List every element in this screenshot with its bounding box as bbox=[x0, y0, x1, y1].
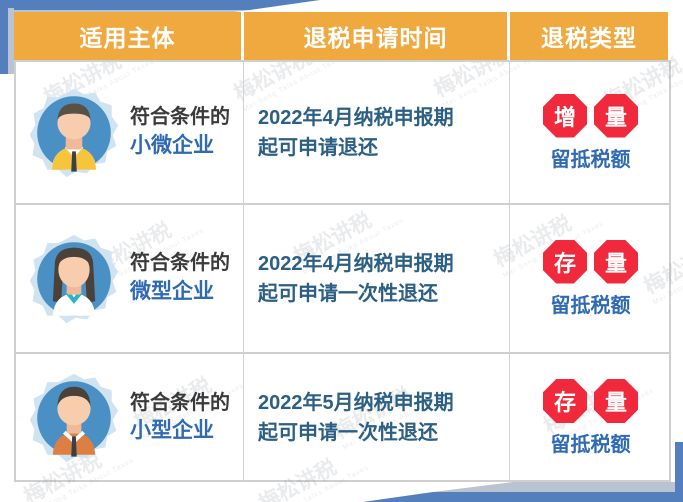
column-header-subject-label: 适用主体 bbox=[80, 19, 176, 53]
subject-line-2: 微型企业 bbox=[130, 280, 214, 303]
status-badge: 增 bbox=[543, 94, 587, 138]
column-header-application-time: 退税申请时间 bbox=[244, 12, 510, 60]
application-time-line-2: 起可申请一次性退还 bbox=[258, 422, 438, 444]
subject-text: 符合条件的 微型企业 bbox=[130, 250, 230, 307]
application-time-line-1: 2022年5月纳税申报期 bbox=[258, 392, 454, 414]
table-row: 符合条件的 小微企业 bbox=[14, 60, 244, 203]
refund-type-badges: 增 量 bbox=[543, 94, 638, 138]
status-badge: 量 bbox=[594, 379, 638, 423]
infographic-table-slide: 梅松讲税Mei Song Talks About Taxes 梅松讲税Mei S… bbox=[0, 0, 683, 502]
application-time-cell: 2022年4月纳税申报期 起可申请一次性退还 bbox=[244, 249, 509, 309]
application-time-line-2: 起可申请退还 bbox=[258, 137, 378, 159]
table-row: 2022年4月纳税申报期 起可申请退还 bbox=[244, 60, 510, 203]
refund-type-badges: 存 量 bbox=[543, 379, 638, 423]
status-badge: 存 bbox=[543, 379, 587, 423]
refund-type-cell: 存 量 留抵税额 bbox=[543, 240, 638, 318]
refund-policy-table: 适用主体 退税申请时间 退税类型 bbox=[14, 12, 671, 482]
subject-line-1: 符合条件的 bbox=[130, 106, 230, 128]
status-badge: 量 bbox=[594, 240, 638, 284]
status-badge: 量 bbox=[594, 94, 638, 138]
refund-type-label: 留抵税额 bbox=[551, 143, 631, 172]
application-time-line-1: 2022年4月纳税申报期 bbox=[258, 253, 454, 275]
male-yellow-vest-avatar-icon bbox=[28, 87, 120, 179]
subject-text: 符合条件的 小型企业 bbox=[130, 390, 230, 447]
subject-line-1: 符合条件的 bbox=[130, 252, 230, 274]
application-time-line-2: 起可申请一次性退还 bbox=[258, 283, 438, 305]
table-row: 增 量 留抵税额 bbox=[510, 60, 671, 203]
male-orange-shirt-avatar-icon bbox=[28, 372, 120, 464]
subject-line-2: 小型企业 bbox=[130, 419, 214, 442]
refund-type-cell: 增 量 留抵税额 bbox=[543, 94, 638, 172]
female-lab-coat-avatar-icon bbox=[28, 233, 120, 325]
application-time-cell: 2022年4月纳税申报期 起可申请退还 bbox=[244, 103, 509, 163]
right-edge-decoration bbox=[675, 442, 683, 502]
status-badge: 存 bbox=[543, 240, 587, 284]
left-edge-decoration bbox=[0, 0, 8, 74]
table-row: 2022年5月纳税申报期 起可申请一次性退还 bbox=[244, 352, 510, 482]
subject-line-2: 小微企业 bbox=[130, 134, 214, 157]
refund-type-label: 留抵税额 bbox=[551, 289, 631, 318]
application-time-cell: 2022年5月纳税申报期 起可申请一次性退还 bbox=[244, 388, 509, 448]
column-header-refund-type: 退税类型 bbox=[510, 12, 671, 60]
refund-type-cell: 存 量 留抵税额 bbox=[543, 379, 638, 457]
bottom-right-diagonal-decoration bbox=[363, 480, 683, 502]
refund-type-badges: 存 量 bbox=[543, 240, 638, 284]
table-row: 符合条件的 微型企业 bbox=[14, 203, 244, 352]
table-row: 2022年4月纳税申报期 起可申请一次性退还 bbox=[244, 203, 510, 352]
application-time-line-1: 2022年4月纳税申报期 bbox=[258, 107, 454, 129]
column-header-subject: 适用主体 bbox=[14, 12, 244, 60]
column-header-application-time-label: 退税申请时间 bbox=[304, 19, 448, 53]
subject-cell: 符合条件的 小微企业 bbox=[14, 87, 243, 179]
table-row: 存 量 留抵税额 bbox=[510, 352, 671, 482]
subject-cell: 符合条件的 小型企业 bbox=[14, 372, 243, 464]
table-row: 符合条件的 小型企业 bbox=[14, 352, 244, 482]
column-header-refund-type-label: 退税类型 bbox=[541, 19, 637, 53]
subject-cell: 符合条件的 微型企业 bbox=[14, 233, 243, 325]
refund-type-label: 留抵税额 bbox=[551, 428, 631, 457]
subject-text: 符合条件的 小微企业 bbox=[130, 104, 230, 161]
subject-line-1: 符合条件的 bbox=[130, 392, 230, 414]
table-row: 存 量 留抵税额 bbox=[510, 203, 671, 352]
